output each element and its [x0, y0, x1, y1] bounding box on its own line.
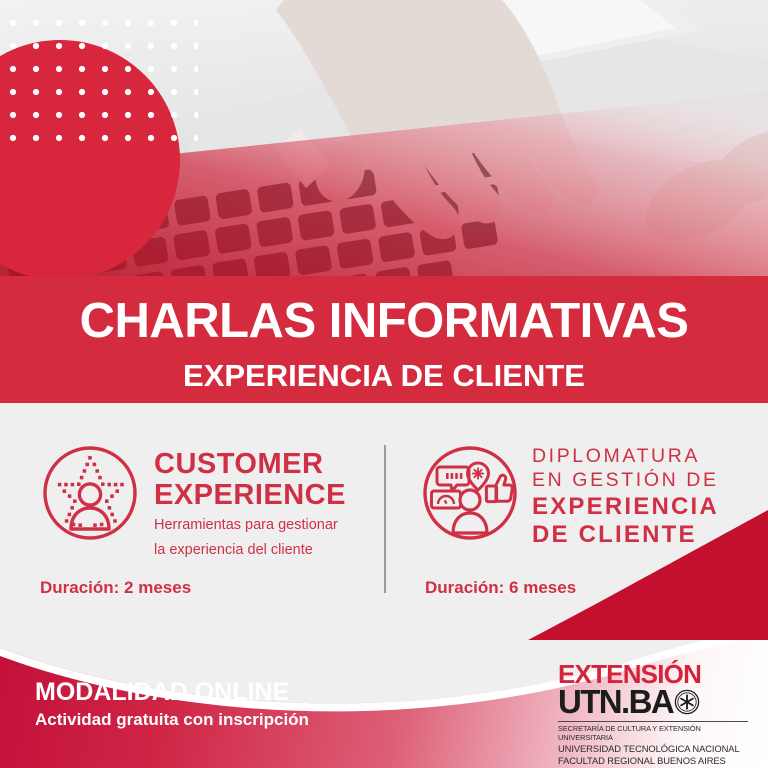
programs-section: CUSTOMER EXPERIENCE Herramientas para ge…: [0, 403, 768, 640]
duration-customer-experience: Duración: 2 meses: [40, 578, 191, 598]
program-card-diplomatura: DIPLOMATURA EN GESTIÓN DE EXPERIENCIA DE…: [420, 443, 719, 550]
star-person-icon: [40, 443, 140, 543]
poster-subtitle: EXPERIENCIA DE CLIENTE: [0, 346, 768, 391]
diplomatura-text: DIPLOMATURA EN GESTIÓN DE EXPERIENCIA DE…: [532, 443, 719, 550]
logo-utn-row: UTN.BA: [558, 686, 754, 717]
duration-diplomatura: Duración: 6 meses: [425, 578, 576, 598]
logo-subtitle-line3: FACULTAD REGIONAL BUENOS AIRES: [558, 755, 754, 767]
program-card-customer-experience: CUSTOMER EXPERIENCE Herramientas para ge…: [40, 443, 346, 559]
program-heading-line1: CUSTOMER: [154, 449, 346, 480]
hero-banner: [0, 0, 768, 276]
program-heading-line3: EXPERIENCIA: [532, 493, 719, 522]
dot-grid-decoration: [8, 18, 198, 148]
program-heading-line2: EN GESTIÓN DE: [532, 469, 719, 493]
poster: CHARLAS INFORMATIVAS EXPERIENCIA DE CLIE…: [0, 0, 768, 768]
modality-label: MODALIDAD ONLINE: [35, 680, 289, 705]
customer-feedback-icon: [420, 443, 520, 543]
program-heading-line2: EXPERIENCE: [154, 480, 346, 511]
activity-note: Actividad gratuita con inscripción: [35, 711, 309, 728]
logo-subtitle-line1: SECRETARÍA DE CULTURA Y EXTENSIÓN UNIVER…: [558, 724, 754, 743]
title-band: CHARLAS INFORMATIVAS EXPERIENCIA DE CLIE…: [0, 276, 768, 403]
customer-experience-text: CUSTOMER EXPERIENCE Herramientas para ge…: [154, 443, 346, 559]
column-divider: [384, 445, 386, 593]
logo-divider: [558, 721, 748, 722]
logo-utn-text: UTN.BA: [558, 686, 673, 717]
program-description-line1: Herramientas para gestionar: [154, 516, 346, 534]
poster-title: CHARLAS INFORMATIVAS: [0, 276, 768, 346]
utn-asterisk-icon: [674, 689, 700, 715]
program-heading-line1: DIPLOMATURA: [532, 445, 719, 469]
utn-ba-logo: EXTENSIÓN UTN.BA SECRETARÍA DE CULTURA Y…: [558, 662, 754, 768]
logo-subtitle-line2: UNIVERSIDAD TECNOLÓGICA NACIONAL: [558, 743, 754, 755]
program-heading-line4: DE CLIENTE: [532, 521, 719, 550]
program-description-line2: la experiencia del cliente: [154, 541, 346, 559]
